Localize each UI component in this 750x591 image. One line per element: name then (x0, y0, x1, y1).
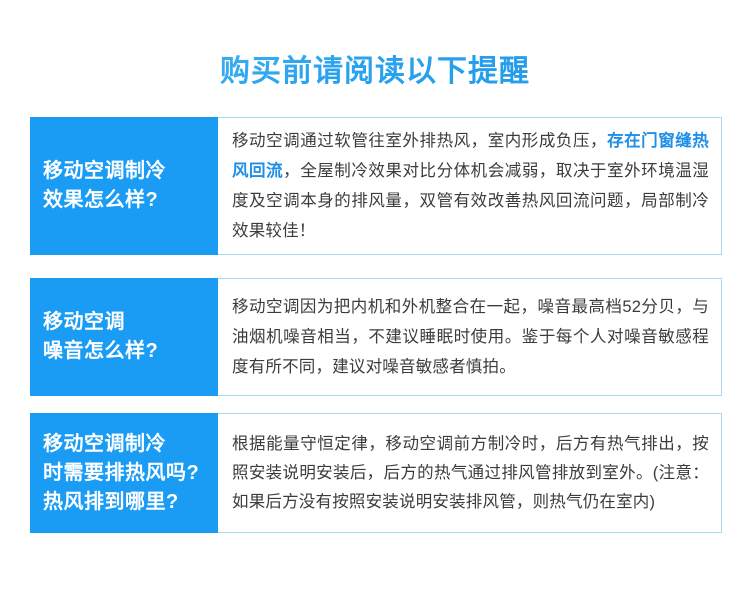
faq-question-line: 移动空调制冷 (43, 430, 218, 459)
faq-row: 移动空调制冷 时需要排热风吗? 热风排到哪里? 根据能量守恒定律，移动空调前方制… (30, 413, 722, 533)
faq-row: 移动空调制冷 效果怎么样? 移动空调通过软管往室外排热风，室内形成负压，存在门窗… (30, 117, 722, 255)
faq-answer-segment: 移动空调通过软管往室外排热风，室内形成负压， (232, 132, 607, 150)
faq-answer-segment: ，全屋制冷效果对比分体机会减弱，取决于室外环境温湿度及空调本身的排风量，双管有效… (232, 162, 709, 240)
faq-question-line: 热风排到哪里? (43, 488, 218, 517)
faq-question-line: 时需要排热风吗? (43, 459, 218, 488)
faq-answer-box: 移动空调通过软管往室外排热风，室内形成负压，存在门窗缝热风回流，全屋制冷效果对比… (218, 117, 722, 255)
faq-question-line: 噪音怎么样? (43, 337, 218, 366)
faq-question-line: 效果怎么样? (43, 186, 218, 215)
faq-answer-text: 根据能量守恒定律，移动空调前方制冷时，后方有热气排出，按照安装说明安装后，后方的… (232, 430, 709, 517)
faq-list: 移动空调制冷 效果怎么样? 移动空调通过软管往室外排热风，室内形成负压，存在门窗… (30, 117, 722, 533)
faq-question-line: 移动空调 (43, 308, 218, 337)
page-title: 购买前请阅读以下提醒 (0, 52, 750, 92)
faq-answer-box: 根据能量守恒定律，移动空调前方制冷时，后方有热气排出，按照安装说明安装后，后方的… (218, 413, 722, 533)
faq-answer-box: 移动空调因为把内机和外机整合在一起，噪音最高档52分贝，与油烟机噪音相当，不建议… (218, 278, 722, 396)
faq-answer-text: 移动空调通过软管往室外排热风，室内形成负压，存在门窗缝热风回流，全屋制冷效果对比… (232, 126, 709, 246)
faq-answer-segment: 根据能量守恒定律，移动空调前方制冷时，后方有热气排出，按照安装说明安装后，后方的… (232, 435, 709, 511)
faq-question-label: 移动空调制冷 时需要排热风吗? 热风排到哪里? (30, 413, 218, 533)
faq-question-label: 移动空调 噪音怎么样? (30, 278, 218, 396)
faq-question-line: 移动空调制冷 (43, 157, 218, 186)
faq-question-label: 移动空调制冷 效果怎么样? (30, 117, 218, 255)
promo-faq-page: 购买前请阅读以下提醒 移动空调制冷 效果怎么样? 移动空调通过软管往室外排热风，… (0, 0, 750, 591)
faq-answer-segment: 移动空调因为把内机和外机整合在一起，噪音最高档52分贝，与油烟机噪音相当，不建议… (232, 298, 709, 376)
faq-row: 移动空调 噪音怎么样? 移动空调因为把内机和外机整合在一起，噪音最高档52分贝，… (30, 278, 722, 396)
faq-answer-text: 移动空调因为把内机和外机整合在一起，噪音最高档52分贝，与油烟机噪音相当，不建议… (232, 292, 709, 382)
